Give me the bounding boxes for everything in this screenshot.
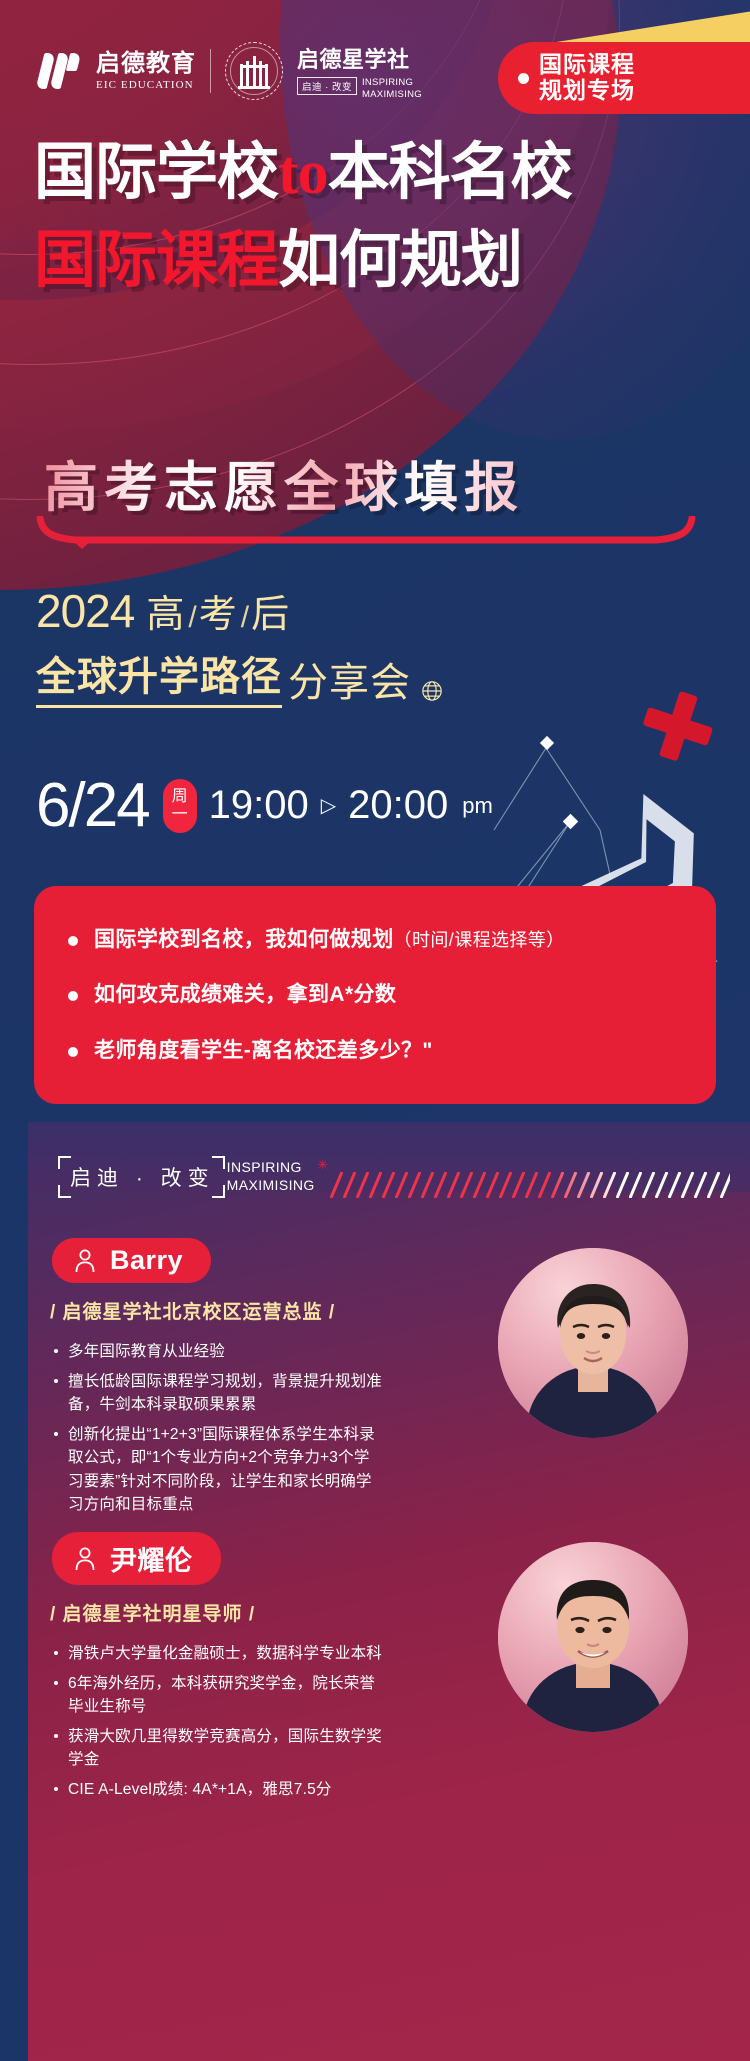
- bracket-bottom-right-icon: [212, 1185, 225, 1198]
- agenda-item: 国际学校到名校，我如何做规划（时间/课程选择等）: [68, 912, 688, 967]
- hatch-stripes-decoration: [330, 1172, 730, 1198]
- agenda-box: 国际学校到名校，我如何做规划（时间/课程选择等） 如何攻克成绩难关，拿到A*分数…: [34, 886, 716, 1104]
- star-academy-en-line1: INSPIRING: [362, 77, 413, 88]
- event-subtitle: 2024 高 / 考 / 后 全球升学路径 分享会: [36, 583, 443, 708]
- star-academy-en: INSPIRING MAXIMISING: [362, 77, 422, 101]
- list-item: 擅长低龄国际课程学习规划，背景提升规划准备，牛剑本科录取硕果累累: [52, 1370, 382, 1417]
- time-end: 20:00: [348, 783, 448, 828]
- eic-logo-text: 启德教育 EIC EDUCATION: [96, 51, 196, 91]
- person-icon: [74, 1248, 96, 1274]
- subtitle-slash-2: /: [241, 601, 249, 635]
- corner-tag-line1: 国际课程: [539, 51, 635, 77]
- agenda-item-note: （时间/课程选择等）: [394, 930, 565, 950]
- brand-slogan-row: 启迪 · 改变 INSPIRING MAXIMISING ✳: [58, 1158, 315, 1196]
- agenda-item-main: 老师角度看学生-离名校还差多少？": [94, 1039, 433, 1062]
- agenda-item-main: 如何攻克成绩难关，拿到A*分数: [94, 983, 396, 1006]
- speaker-name-badge: Barry: [52, 1238, 211, 1283]
- corner-tag-red-shape: 国际课程 规划专场: [498, 42, 750, 114]
- subtitle-seg2: 考: [199, 583, 239, 638]
- main-title: 国际学校to本科名校 国际课程如何规划: [0, 142, 750, 292]
- title-line-1: 国际学校to本科名校: [0, 142, 750, 204]
- asterisk-icon: ✳: [317, 1157, 328, 1174]
- title-line-3: 高考志愿全球填报: [44, 443, 524, 522]
- logo-row: 启德教育 EIC EDUCATION 启德星学社 启迪 · 改变 INSPIRI…: [38, 42, 422, 101]
- agenda-item-text: 国际学校到名校，我如何做规划（时间/课程选择等）: [94, 925, 565, 954]
- star-academy-en-line2: MAXIMISING: [362, 89, 422, 100]
- list-item: CIE A-Level成绩: 4A*+1A，雅思7.5分: [52, 1778, 382, 1802]
- weekday-line1: 周: [172, 788, 188, 806]
- list-item: 6年海外经历，本科获研究奖学金，院长荣誉毕业生称号: [52, 1672, 382, 1719]
- speaker-photo-yin: [498, 1542, 688, 1732]
- list-item: 滑铁卢大学量化金融硕士，数据科学专业本科: [52, 1642, 382, 1666]
- time-separator-icon: ▷: [321, 793, 336, 818]
- title-line1-part1: 国际学校: [34, 138, 278, 207]
- list-item: 获滑大欧几里得数学竞赛高分，国际生数学奖学金: [52, 1725, 382, 1772]
- eic-logo-cn: 启德教育: [96, 51, 196, 76]
- subtitle-strong: 全球升学路径: [36, 644, 282, 708]
- title-line2-white: 如何规划: [278, 226, 522, 295]
- agenda-item-main: 国际学校到名校，我如何做规划: [94, 928, 394, 951]
- speaker-bio-list: 多年国际教育从业经验 擅长低龄国际课程学习规划，背景提升规划准备，牛剑本科录取硕…: [52, 1340, 382, 1517]
- corner-tag-text: 国际课程 规划专场: [539, 52, 635, 104]
- slogan-cn-text: 启迪 · 改变: [70, 1167, 215, 1190]
- subtitle-row-2: 全球升学路径 分享会: [36, 644, 443, 708]
- curriculum-center-seal-icon: [225, 42, 283, 100]
- event-datetime: 6/24 周 一 19:00 ▷ 20:00 pm: [36, 770, 493, 841]
- subtitle-seg1: 高: [146, 583, 186, 638]
- subtitle-seg3: 后: [251, 583, 291, 638]
- subtitle-slash-1: /: [188, 601, 196, 635]
- list-item: 多年国际教育从业经验: [52, 1340, 382, 1364]
- star-academy-slogan-box: 启迪 · 改变: [297, 77, 357, 95]
- speaker-name-badge: 尹耀伦: [52, 1532, 221, 1585]
- eic-logo-en: EIC EDUCATION: [96, 79, 196, 91]
- person-icon: [74, 1546, 96, 1572]
- logo-divider: [210, 49, 211, 93]
- eic-logo-mark-icon: [38, 49, 82, 93]
- star-academy-cn: 启德星学社: [297, 42, 422, 74]
- slogan-en: INSPIRING MAXIMISING ✳: [227, 1159, 315, 1195]
- globe-icon: [421, 680, 443, 702]
- corner-tag-line2: 规划专场: [539, 77, 635, 103]
- corner-tag: 国际课程 规划专场: [450, 30, 750, 120]
- speaker-name: 尹耀伦: [110, 1539, 193, 1578]
- title-line1-accent: to: [278, 139, 328, 207]
- time-start: 19:00: [209, 783, 309, 828]
- agenda-item-text: 老师角度看学生-离名校还差多少？": [94, 1036, 433, 1065]
- bullet-dot-icon: [68, 936, 78, 946]
- speaker-bio-list: 滑铁卢大学量化金融硕士，数据科学专业本科 6年海外经历，本科获研究奖学金，院长荣…: [52, 1642, 382, 1801]
- speaker-name: Barry: [110, 1245, 183, 1276]
- time-meridiem: pm: [462, 793, 493, 819]
- title-line-2: 国际课程如何规划: [0, 230, 750, 292]
- bracket-top-right-icon: [212, 1156, 225, 1169]
- list-item: 创新化提出“1+2+3”国际课程体系学生本科录取公式，即“1个专业方向+2个竞争…: [52, 1423, 382, 1517]
- weekday-line2: 一: [172, 806, 188, 824]
- subtitle-rest: 分享会: [288, 650, 411, 708]
- agenda-item: 如何攻克成绩难关，拿到A*分数: [68, 967, 688, 1022]
- subtitle-year: 2024: [36, 584, 134, 638]
- title-line2-red: 国际课程: [34, 226, 278, 295]
- speaker-photo-barry: [498, 1248, 688, 1438]
- bullet-dot-icon: [518, 73, 529, 84]
- bullet-dot-icon: [68, 991, 78, 1001]
- subtitle-row-1: 2024 高 / 考 / 后: [36, 583, 443, 638]
- event-time-range: 19:00 ▷ 20:00 pm: [209, 783, 493, 828]
- slogan-en-line2: MAXIMISING: [227, 1177, 315, 1193]
- agenda-item: 老师角度看学生-离名校还差多少？": [68, 1023, 688, 1078]
- agenda-item-text: 如何攻克成绩难关，拿到A*分数: [94, 980, 396, 1009]
- red-swoosh-divider: [36, 516, 696, 550]
- bracket-bottom-left-icon: [58, 1185, 71, 1198]
- bracket-top-left-icon: [58, 1156, 71, 1169]
- slogan-cn: 启迪 · 改变: [58, 1158, 225, 1196]
- poster-root: 国际课程 规划专场 启德教育 EIC EDUCATION 启德星学社 启迪 · …: [0, 0, 750, 2061]
- slogan-en-line1: INSPIRING: [227, 1159, 302, 1175]
- star-academy-logo: 启德星学社 启迪 · 改变 INSPIRING MAXIMISING: [297, 42, 422, 101]
- bullet-dot-icon: [68, 1047, 78, 1057]
- event-date: 6/24: [36, 770, 149, 841]
- title-line1-part2: 本科名校: [328, 138, 572, 207]
- weekday-badge: 周 一: [163, 779, 197, 833]
